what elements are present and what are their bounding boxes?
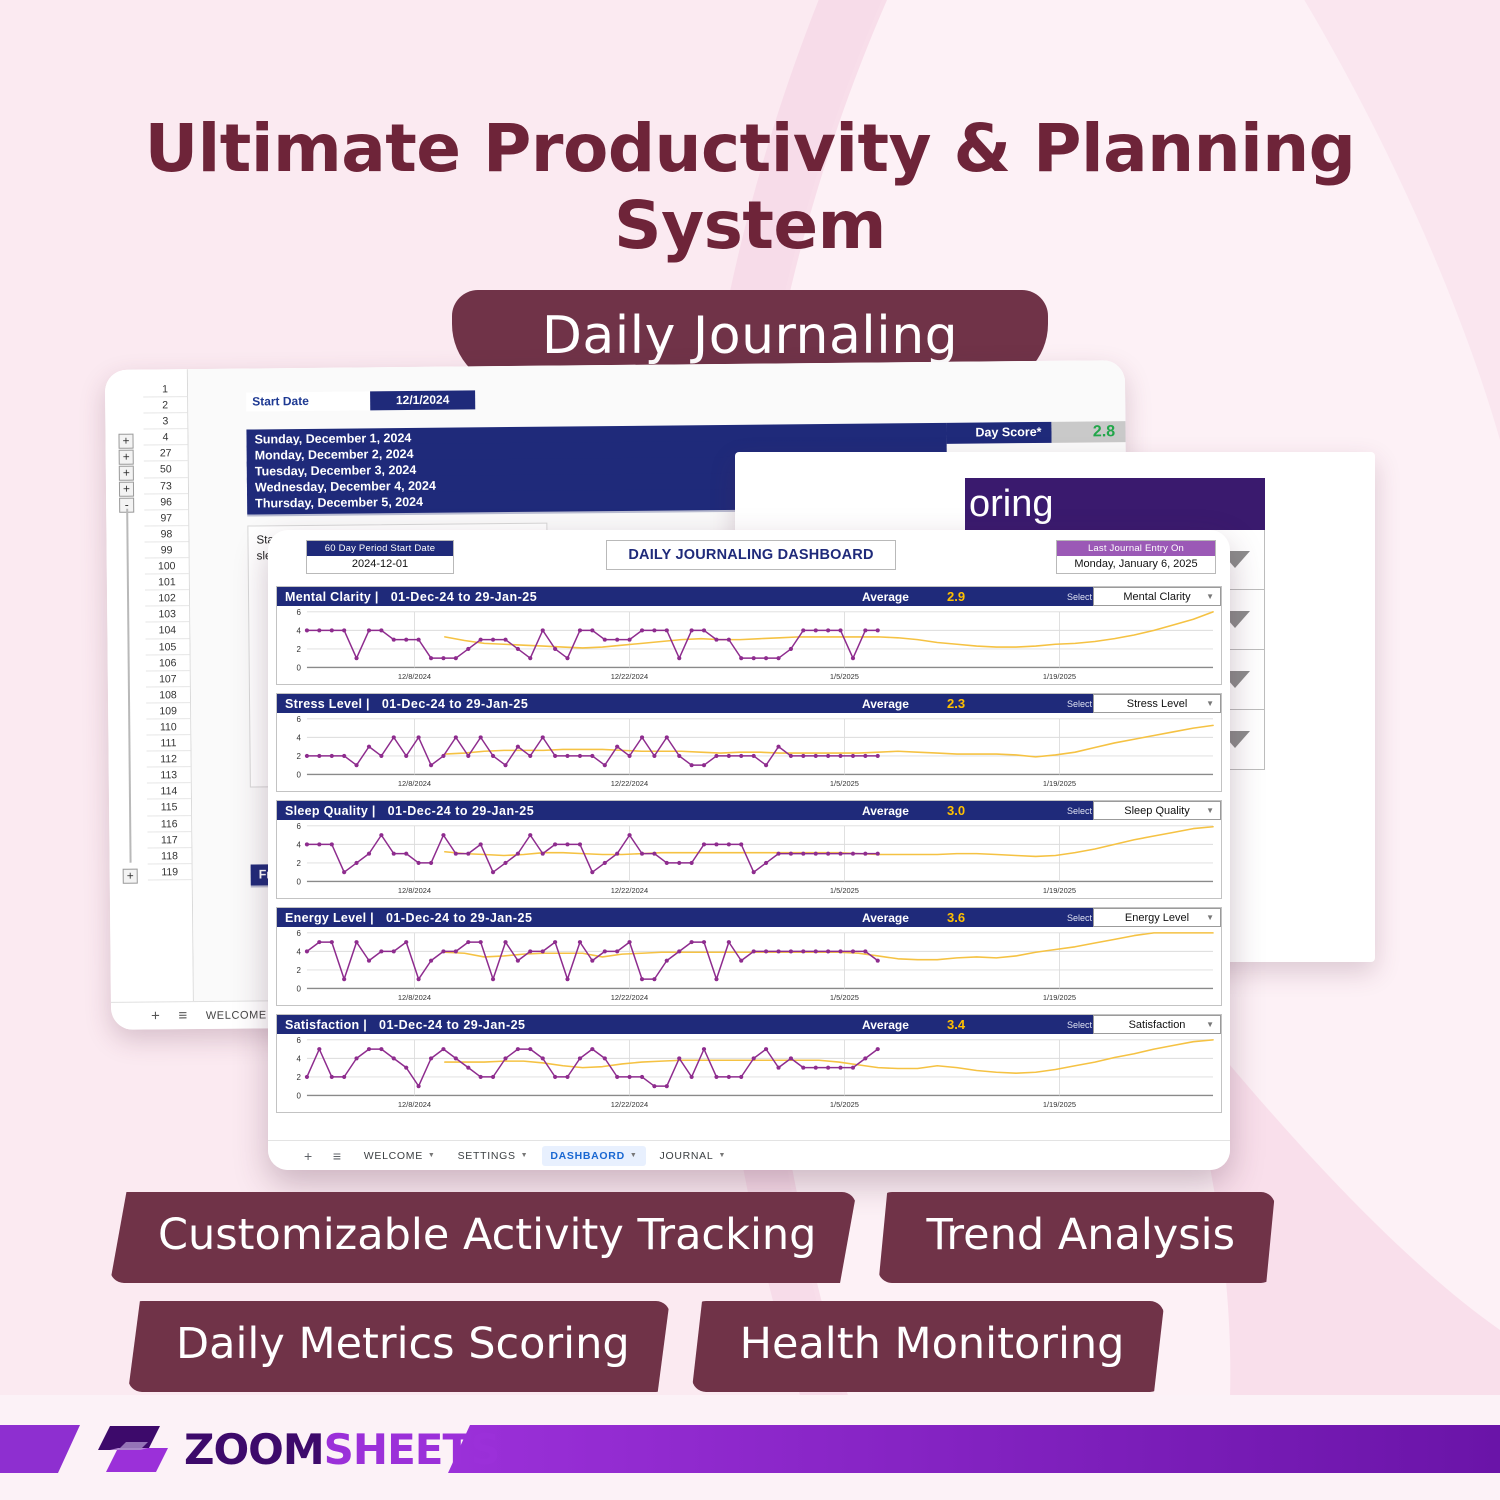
data-point bbox=[479, 842, 483, 846]
data-point bbox=[714, 977, 718, 981]
data-point bbox=[354, 940, 358, 944]
chevron-down-icon[interactable]: ▼ bbox=[630, 1152, 638, 1159]
data-point bbox=[590, 628, 594, 632]
data-point bbox=[392, 638, 396, 642]
chart-average-label: Average bbox=[862, 911, 909, 925]
data-point bbox=[652, 1084, 656, 1088]
row-number[interactable]: 108 bbox=[146, 687, 190, 704]
chevron-down-icon[interactable]: ▼ bbox=[1206, 1020, 1214, 1029]
data-point bbox=[454, 735, 458, 739]
data-point bbox=[640, 735, 644, 739]
data-point bbox=[342, 628, 346, 632]
data-point bbox=[392, 1056, 396, 1060]
data-point bbox=[690, 628, 694, 632]
data-point bbox=[764, 763, 768, 767]
dashboard-window[interactable]: 60 Day Period Start Date 2024-12-01 DAIL… bbox=[268, 530, 1230, 1170]
data-point bbox=[330, 940, 334, 944]
data-point bbox=[491, 638, 495, 642]
row-number[interactable]: 107 bbox=[146, 671, 190, 688]
metric-type-value: Satisfaction bbox=[1129, 1019, 1186, 1031]
data-point bbox=[615, 745, 619, 749]
svg-text:1/5/2025: 1/5/2025 bbox=[830, 1100, 859, 1109]
brand-logo[interactable]: ZOOMSHEETS bbox=[96, 1420, 499, 1478]
data-point bbox=[876, 754, 880, 758]
chart-card-header: Energy Level |01-Dec-24 to 29-Jan-25Aver… bbox=[277, 908, 1221, 927]
data-point bbox=[752, 656, 756, 660]
start-date-label: Start Date bbox=[246, 391, 370, 411]
data-point bbox=[417, 977, 421, 981]
svg-text:12/22/2024: 12/22/2024 bbox=[611, 886, 648, 895]
data-point bbox=[590, 754, 594, 758]
data-point bbox=[789, 949, 793, 953]
svg-text:2: 2 bbox=[297, 966, 301, 975]
chart-metric-name: Sleep Quality | bbox=[277, 804, 376, 818]
data-point bbox=[677, 949, 681, 953]
row-number[interactable]: 109 bbox=[146, 703, 190, 720]
data-point bbox=[776, 1066, 780, 1070]
chart-average-label: Average bbox=[862, 1018, 909, 1032]
data-point bbox=[516, 745, 520, 749]
page-title: Ultimate Productivity & Planning System bbox=[0, 110, 1500, 264]
data-point bbox=[863, 628, 867, 632]
row-number[interactable]: 110 bbox=[146, 719, 190, 736]
chart-average-value: 2.9 bbox=[947, 589, 965, 604]
data-point bbox=[702, 763, 706, 767]
svg-text:4: 4 bbox=[297, 626, 302, 635]
data-point bbox=[528, 656, 532, 660]
data-point bbox=[417, 638, 421, 642]
data-point bbox=[305, 949, 309, 953]
row-number[interactable]: 117 bbox=[147, 832, 191, 849]
metric-type-value: Mental Clarity bbox=[1123, 591, 1190, 603]
data-point bbox=[342, 977, 346, 981]
data-point bbox=[801, 628, 805, 632]
svg-text:4: 4 bbox=[297, 733, 302, 742]
metric-chart-card: Energy Level |01-Dec-24 to 29-Jan-25Aver… bbox=[276, 907, 1222, 1006]
data-point bbox=[454, 852, 458, 856]
sheet-tab-journal[interactable]: JOURNAL▼ bbox=[652, 1146, 735, 1166]
data-point bbox=[553, 754, 557, 758]
data-point bbox=[466, 754, 470, 758]
sheet-tab-settings[interactable]: SETTINGS▼ bbox=[450, 1146, 537, 1166]
row-number[interactable]: 98 bbox=[144, 526, 188, 543]
dashboard-top-row: 60 Day Period Start Date 2024-12-01 DAIL… bbox=[276, 538, 1222, 578]
data-point bbox=[814, 754, 818, 758]
feature-pill: Daily Metrics Scoring bbox=[128, 1301, 670, 1392]
start-date-value[interactable]: 12/1/2024 bbox=[370, 390, 475, 410]
data-point bbox=[342, 870, 346, 874]
add-sheet-icon[interactable]: + bbox=[298, 1148, 319, 1164]
metric-chart-card: Sleep Quality |01-Dec-24 to 29-Jan-25Ave… bbox=[276, 800, 1222, 899]
row-number[interactable]: 73 bbox=[144, 478, 188, 495]
data-point bbox=[553, 842, 557, 846]
data-point bbox=[838, 754, 842, 758]
metric-line bbox=[307, 630, 878, 658]
data-point bbox=[615, 638, 619, 642]
start-date-row[interactable]: Start Date 12/1/2024 bbox=[246, 390, 475, 411]
data-point bbox=[752, 1056, 756, 1060]
data-point bbox=[317, 1047, 321, 1051]
svg-text:1/5/2025: 1/5/2025 bbox=[830, 993, 859, 1002]
sheet-tab-label: SETTINGS bbox=[458, 1150, 516, 1162]
footer: ZOOMSHEETS bbox=[0, 1395, 1500, 1500]
expand-group-icon[interactable]: + bbox=[119, 482, 134, 497]
sheet-tab-label: JOURNAL bbox=[660, 1150, 714, 1162]
data-point bbox=[739, 656, 743, 660]
zoomsheets-logo-icon bbox=[96, 1420, 168, 1478]
data-point bbox=[801, 852, 805, 856]
data-point bbox=[727, 842, 731, 846]
row-number[interactable]: 99 bbox=[145, 542, 189, 559]
data-point bbox=[764, 656, 768, 660]
data-point bbox=[466, 647, 470, 651]
metric-type-select[interactable]: Mental Clarity▼ bbox=[1093, 587, 1221, 606]
add-sheet-icon[interactable]: + bbox=[151, 1007, 161, 1024]
data-point bbox=[826, 1066, 830, 1070]
data-point bbox=[553, 1075, 557, 1079]
data-point bbox=[491, 754, 495, 758]
data-point bbox=[727, 1075, 731, 1079]
hero-section: Ultimate Productivity & Planning System … bbox=[0, 0, 1500, 388]
data-point bbox=[330, 628, 334, 632]
data-point bbox=[317, 940, 321, 944]
data-point bbox=[739, 842, 743, 846]
row-number[interactable]: 1 bbox=[143, 381, 187, 398]
data-point bbox=[565, 977, 569, 981]
data-point bbox=[354, 861, 358, 865]
data-point bbox=[503, 1056, 507, 1060]
chart-plot-area: 642012/8/202412/22/20241/5/20251/19/2025 bbox=[277, 820, 1221, 898]
data-point bbox=[640, 628, 644, 632]
svg-text:12/22/2024: 12/22/2024 bbox=[611, 1100, 648, 1109]
chart-average-label: Average bbox=[862, 590, 909, 604]
svg-text:12/8/2024: 12/8/2024 bbox=[398, 779, 431, 788]
data-point bbox=[404, 940, 408, 944]
row-number[interactable]: 27 bbox=[144, 445, 188, 462]
data-point bbox=[454, 949, 458, 953]
data-point bbox=[776, 852, 780, 856]
data-point bbox=[590, 870, 594, 874]
chart-average-value: 3.0 bbox=[947, 803, 965, 818]
svg-text:0: 0 bbox=[297, 877, 302, 886]
svg-text:1/19/2025: 1/19/2025 bbox=[1043, 1100, 1076, 1109]
row-outline-gutter[interactable]: ++++-+ bbox=[105, 370, 149, 1002]
chart-date-range: 01-Dec-24 to 29-Jan-25 bbox=[367, 1018, 525, 1032]
data-point bbox=[541, 852, 545, 856]
data-point bbox=[627, 833, 631, 837]
chart-average-value: 2.3 bbox=[947, 696, 965, 711]
metric-type-value: Stress Level bbox=[1127, 698, 1188, 710]
data-point bbox=[851, 754, 855, 758]
row-number[interactable]: 101 bbox=[145, 574, 189, 591]
chevron-down-icon[interactable]: ▼ bbox=[1206, 699, 1214, 708]
data-point bbox=[702, 940, 706, 944]
svg-text:12/8/2024: 12/8/2024 bbox=[398, 1100, 431, 1109]
feature-pill: Health Monitoring bbox=[692, 1301, 1165, 1392]
screenshot-stack: ++++-+ 123427507396979899100101102103104… bbox=[0, 360, 1500, 1180]
data-point bbox=[677, 754, 681, 758]
expand-group-icon[interactable]: + bbox=[119, 466, 134, 481]
data-point bbox=[665, 628, 669, 632]
svg-text:12/8/2024: 12/8/2024 bbox=[398, 672, 431, 681]
data-point bbox=[367, 1047, 371, 1051]
data-point bbox=[752, 870, 756, 874]
row-number[interactable]: 2 bbox=[143, 397, 187, 414]
chart-date-range: 01-Dec-24 to 29-Jan-25 bbox=[376, 804, 534, 818]
data-point bbox=[503, 763, 507, 767]
expand-group-icon[interactable]: + bbox=[119, 450, 134, 465]
metric-type-select[interactable]: Satisfaction▼ bbox=[1093, 1015, 1221, 1034]
data-point bbox=[354, 1056, 358, 1060]
sheet-tab-welcome[interactable]: WELCOME bbox=[206, 1009, 267, 1022]
chevron-down-icon[interactable]: ▼ bbox=[521, 1152, 529, 1159]
data-point bbox=[305, 628, 309, 632]
all-sheets-icon[interactable]: ≡ bbox=[178, 1007, 188, 1024]
data-point bbox=[851, 949, 855, 953]
data-point bbox=[330, 842, 334, 846]
data-point bbox=[714, 754, 718, 758]
data-point bbox=[814, 852, 818, 856]
sheet-tab-dashbaord[interactable]: DASHBAORD▼ bbox=[542, 1146, 645, 1166]
metric-type-value: Sleep Quality bbox=[1124, 805, 1189, 817]
data-point bbox=[429, 861, 433, 865]
svg-text:12/8/2024: 12/8/2024 bbox=[398, 993, 431, 1002]
data-point bbox=[627, 1075, 631, 1079]
data-point bbox=[603, 861, 607, 865]
chart-plot-area: 642012/8/202412/22/20241/5/20251/19/2025 bbox=[277, 927, 1221, 1005]
row-number[interactable]: 112 bbox=[147, 751, 191, 768]
row-number[interactable]: 97 bbox=[144, 510, 188, 527]
data-point bbox=[640, 852, 644, 856]
data-point bbox=[590, 1047, 594, 1051]
svg-text:1/19/2025: 1/19/2025 bbox=[1043, 886, 1076, 895]
data-point bbox=[603, 1056, 607, 1060]
data-point bbox=[665, 959, 669, 963]
data-point bbox=[541, 1056, 545, 1060]
data-point bbox=[367, 959, 371, 963]
data-point bbox=[690, 763, 694, 767]
row-number[interactable]: 105 bbox=[145, 639, 189, 656]
data-point bbox=[876, 959, 880, 963]
svg-text:0: 0 bbox=[297, 770, 302, 779]
expand-group-icon[interactable]: + bbox=[123, 868, 138, 883]
data-point bbox=[838, 1066, 842, 1070]
data-point bbox=[714, 1075, 718, 1079]
data-point bbox=[503, 940, 507, 944]
data-point bbox=[764, 949, 768, 953]
data-point bbox=[528, 1047, 532, 1051]
data-point bbox=[739, 959, 743, 963]
chart-average-value: 3.6 bbox=[947, 910, 965, 925]
data-point bbox=[503, 861, 507, 865]
row-number[interactable]: 4 bbox=[143, 429, 187, 446]
row-number[interactable]: 116 bbox=[147, 816, 191, 833]
data-point bbox=[541, 628, 545, 632]
metric-type-select[interactable]: Energy Level▼ bbox=[1093, 908, 1221, 927]
data-point bbox=[429, 959, 433, 963]
metric-chart-card: Stress Level |01-Dec-24 to 29-Jan-25Aver… bbox=[276, 693, 1222, 792]
group-spine bbox=[126, 508, 131, 862]
data-point bbox=[826, 949, 830, 953]
data-point bbox=[851, 852, 855, 856]
chart-metric-name: Mental Clarity | bbox=[277, 590, 379, 604]
row-number[interactable]: 102 bbox=[145, 590, 189, 607]
row-number[interactable]: 104 bbox=[145, 623, 189, 640]
data-point bbox=[354, 656, 358, 660]
svg-text:1/5/2025: 1/5/2025 bbox=[830, 672, 859, 681]
sheet-tab-label: WELCOME bbox=[364, 1150, 423, 1162]
svg-text:1/5/2025: 1/5/2025 bbox=[830, 779, 859, 788]
feature-pill-row: Customizable Activity TrackingTrend Anal… bbox=[0, 1192, 1500, 1283]
data-point bbox=[305, 842, 309, 846]
data-point bbox=[665, 861, 669, 865]
dashboard-tabbar[interactable]: + ≡ WELCOME▼SETTINGS▼DASHBAORD▼JOURNAL▼ bbox=[268, 1140, 1230, 1170]
data-point bbox=[479, 1075, 483, 1079]
data-point bbox=[739, 754, 743, 758]
row-number[interactable]: 100 bbox=[145, 558, 189, 575]
chevron-down-icon[interactable]: ▼ bbox=[428, 1152, 436, 1159]
data-point bbox=[354, 763, 358, 767]
all-sheets-icon[interactable]: ≡ bbox=[327, 1148, 348, 1164]
svg-text:4: 4 bbox=[297, 1054, 302, 1063]
data-point bbox=[677, 1056, 681, 1060]
brand-wordmark: ZOOMSHEETS bbox=[184, 1425, 499, 1474]
period-start-label: 60 Day Period Start Date bbox=[307, 541, 453, 556]
chart-date-range: 01-Dec-24 to 29-Jan-25 bbox=[370, 697, 528, 711]
row-number[interactable]: 3 bbox=[143, 413, 187, 430]
day-score-value: 2.8 bbox=[1051, 421, 1131, 443]
data-point bbox=[702, 1047, 706, 1051]
data-point bbox=[615, 949, 619, 953]
chart-metric-name: Satisfaction | bbox=[277, 1018, 367, 1032]
data-point bbox=[379, 949, 383, 953]
data-point bbox=[876, 852, 880, 856]
data-point bbox=[739, 1075, 743, 1079]
row-number[interactable]: 106 bbox=[146, 655, 190, 672]
data-point bbox=[342, 754, 346, 758]
data-point bbox=[640, 1075, 644, 1079]
chart-average-label: Average bbox=[862, 697, 909, 711]
period-start-box[interactable]: 60 Day Period Start Date 2024-12-01 bbox=[306, 540, 454, 574]
svg-text:4: 4 bbox=[297, 947, 302, 956]
data-point bbox=[652, 628, 656, 632]
data-point bbox=[652, 754, 656, 758]
data-point bbox=[714, 842, 718, 846]
row-number[interactable]: 103 bbox=[145, 606, 189, 623]
data-point bbox=[553, 940, 557, 944]
data-point bbox=[429, 656, 433, 660]
chevron-down-icon[interactable]: ▼ bbox=[1206, 913, 1214, 922]
chart-card-header: Stress Level |01-Dec-24 to 29-Jan-25Aver… bbox=[277, 694, 1221, 713]
row-number[interactable]: 50 bbox=[144, 462, 188, 479]
data-point bbox=[441, 833, 445, 837]
data-point bbox=[565, 754, 569, 758]
data-point bbox=[342, 1075, 346, 1079]
data-point bbox=[764, 1047, 768, 1051]
data-point bbox=[578, 628, 582, 632]
last-entry-value: Monday, January 6, 2025 bbox=[1057, 556, 1215, 573]
svg-text:2: 2 bbox=[297, 859, 301, 868]
data-point bbox=[528, 754, 532, 758]
data-point bbox=[764, 861, 768, 865]
data-point bbox=[826, 852, 830, 856]
period-start-value[interactable]: 2024-12-01 bbox=[307, 556, 453, 573]
data-point bbox=[565, 656, 569, 660]
row-number[interactable]: 119 bbox=[148, 864, 192, 881]
data-point bbox=[702, 628, 706, 632]
chevron-down-icon[interactable]: ▼ bbox=[1206, 592, 1214, 601]
chevron-down-icon[interactable]: ▼ bbox=[1206, 806, 1214, 815]
svg-text:0: 0 bbox=[297, 1091, 302, 1100]
data-point bbox=[603, 763, 607, 767]
data-point bbox=[603, 638, 607, 642]
data-point bbox=[441, 949, 445, 953]
svg-text:1/19/2025: 1/19/2025 bbox=[1043, 993, 1076, 1002]
row-number[interactable]: 114 bbox=[147, 783, 191, 800]
data-point bbox=[379, 833, 383, 837]
data-point bbox=[838, 852, 842, 856]
last-entry-box[interactable]: Last Journal Entry On Monday, January 6,… bbox=[1056, 540, 1216, 574]
data-point bbox=[814, 628, 818, 632]
row-number[interactable]: 111 bbox=[146, 735, 190, 752]
data-point bbox=[826, 628, 830, 632]
data-point bbox=[838, 628, 842, 632]
day-score-label: Day Score* bbox=[946, 422, 1051, 444]
data-point bbox=[379, 628, 383, 632]
data-point bbox=[665, 735, 669, 739]
data-point bbox=[801, 1066, 805, 1070]
sheet-tab-welcome[interactable]: WELCOME▼ bbox=[356, 1146, 444, 1166]
metric-type-select[interactable]: Sleep Quality▼ bbox=[1093, 801, 1221, 820]
chart-card-header: Sleep Quality |01-Dec-24 to 29-Jan-25Ave… bbox=[277, 801, 1221, 820]
scoring-panel-header: oring bbox=[965, 478, 1265, 530]
metric-type-select[interactable]: Stress Level▼ bbox=[1093, 694, 1221, 713]
sheet-tabs[interactable]: WELCOME▼SETTINGS▼DASHBAORD▼JOURNAL▼ bbox=[356, 1146, 734, 1166]
data-point bbox=[491, 977, 495, 981]
chevron-down-icon[interactable]: ▼ bbox=[718, 1152, 726, 1159]
row-number[interactable]: 113 bbox=[147, 767, 191, 784]
data-point bbox=[317, 628, 321, 632]
chart-card-header: Mental Clarity |01-Dec-24 to 29-Jan-25Av… bbox=[277, 587, 1221, 606]
row-number[interactable]: 118 bbox=[147, 848, 191, 865]
data-point bbox=[690, 861, 694, 865]
data-point bbox=[627, 754, 631, 758]
data-point bbox=[565, 1075, 569, 1079]
data-point bbox=[379, 754, 383, 758]
expand-group-icon[interactable]: + bbox=[118, 433, 133, 448]
svg-text:2: 2 bbox=[297, 645, 301, 654]
chart-date-range: 01-Dec-24 to 29-Jan-25 bbox=[374, 911, 532, 925]
data-point bbox=[752, 754, 756, 758]
svg-text:1/19/2025: 1/19/2025 bbox=[1043, 779, 1076, 788]
data-point bbox=[305, 754, 309, 758]
data-point bbox=[863, 949, 867, 953]
data-point bbox=[528, 833, 532, 837]
data-point bbox=[479, 638, 483, 642]
data-point bbox=[528, 949, 532, 953]
data-point bbox=[789, 647, 793, 651]
row-number[interactable]: 96 bbox=[144, 494, 188, 511]
svg-text:12/22/2024: 12/22/2024 bbox=[611, 672, 648, 681]
row-number-column: 1234275073969798991001011021031041051061… bbox=[143, 369, 194, 1001]
data-point bbox=[863, 1056, 867, 1060]
data-point bbox=[776, 745, 780, 749]
data-point bbox=[603, 949, 607, 953]
data-point bbox=[727, 940, 731, 944]
day-score-cell: Day Score*2.8 bbox=[946, 421, 1131, 444]
row-number[interactable]: 115 bbox=[147, 800, 191, 817]
svg-text:1/5/2025: 1/5/2025 bbox=[830, 886, 859, 895]
